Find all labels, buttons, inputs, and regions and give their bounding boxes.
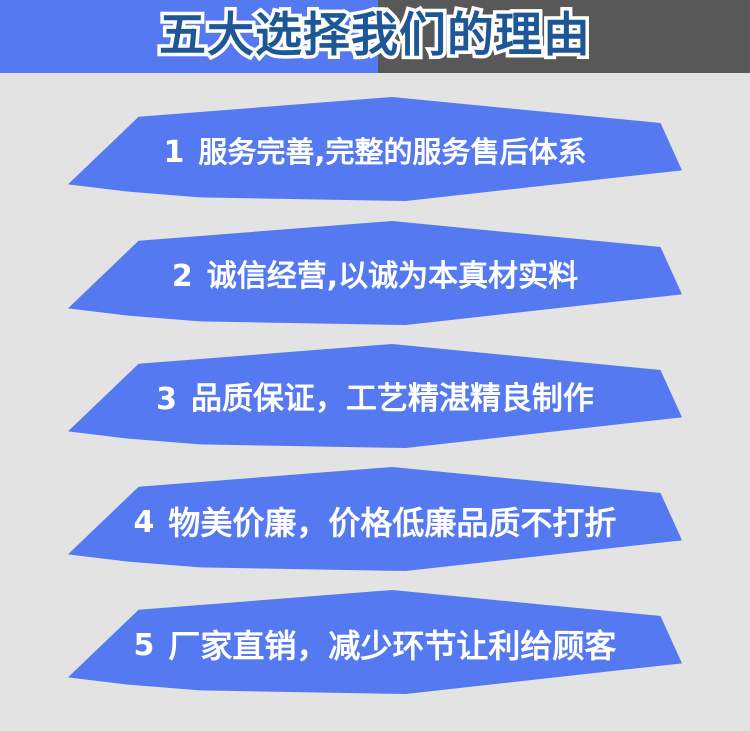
banner-content: 1 服务完善,完整的服务售后体系 xyxy=(68,97,682,201)
banner-content: 4 物美价廉，价格低廉品质不打折 xyxy=(68,467,682,571)
banner-label: 物美价廉，价格低廉品质不打折 xyxy=(168,507,616,539)
reason-banner-2: 2 诚信经营,以诚为本真材实料 xyxy=(68,221,682,325)
banner-label: 品质保证，工艺精湛精良制作 xyxy=(191,384,594,415)
banner-index: 3 xyxy=(156,385,177,415)
banner-index: 5 xyxy=(134,631,155,661)
banner-index: 1 xyxy=(164,138,185,168)
banner-label: 服务完善,完整的服务售后体系 xyxy=(198,138,586,167)
reasons-list: 1 服务完善,完整的服务售后体系 2 诚信经营,以诚为本真材实料 3 品质保证，… xyxy=(0,73,750,731)
page-title: 五大选择我们的理由 xyxy=(0,0,750,73)
banner-content: 3 品质保证，工艺精湛精良制作 xyxy=(68,344,682,448)
reason-banner-3: 3 品质保证，工艺精湛精良制作 xyxy=(68,344,682,448)
banner-content: 5 厂家直销，减少环节让利给顾客 xyxy=(68,590,682,694)
reason-banner-5: 5 厂家直销，减少环节让利给顾客 xyxy=(68,590,682,694)
reason-banner-4: 4 物美价廉，价格低廉品质不打折 xyxy=(68,467,682,571)
banner-label: 厂家直销，减少环节让利给顾客 xyxy=(168,630,616,662)
banner-index: 2 xyxy=(172,262,193,292)
reason-banner-1: 1 服务完善,完整的服务售后体系 xyxy=(68,97,682,201)
banner-label: 诚信经营,以诚为本真材实料 xyxy=(207,262,578,292)
page-header: 五大选择我们的理由 xyxy=(0,0,750,73)
banner-index: 4 xyxy=(134,508,155,538)
banner-content: 2 诚信经营,以诚为本真材实料 xyxy=(68,221,682,325)
